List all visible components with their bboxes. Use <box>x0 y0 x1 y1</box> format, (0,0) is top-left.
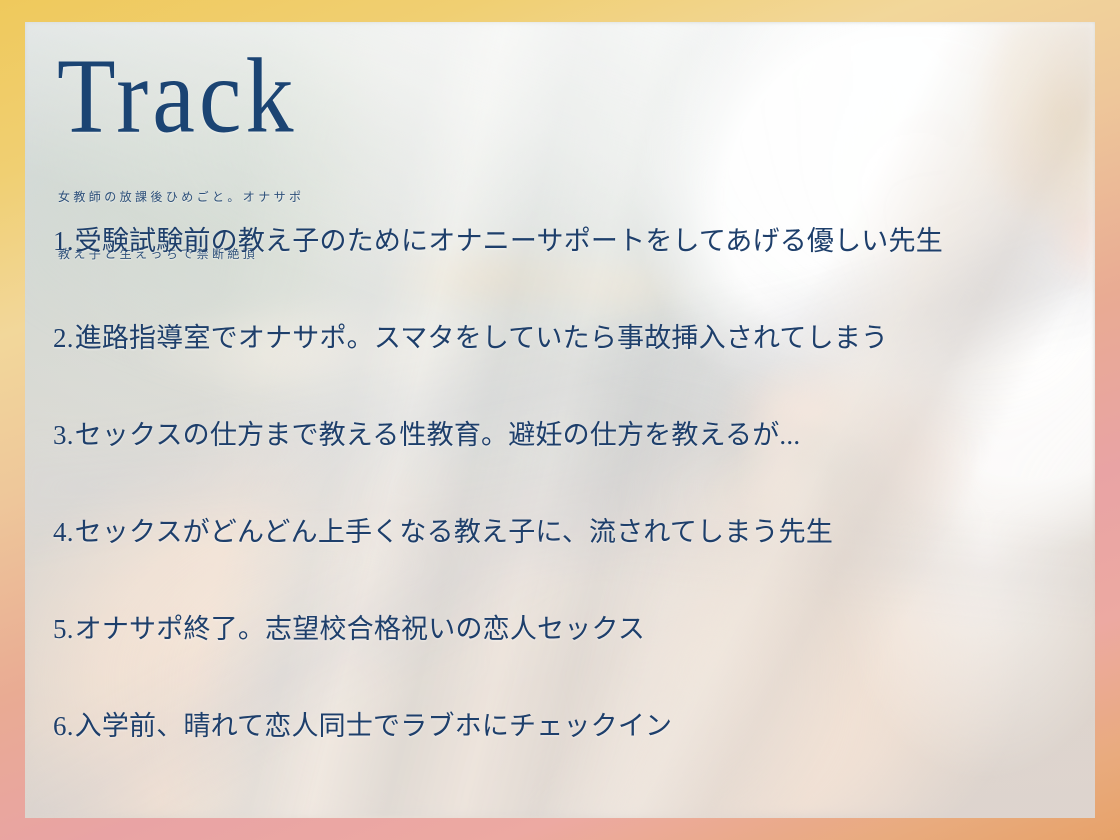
artwork-panel: Track 女教師の放課後ひめごと。オナサポ 教え子と生えっちで禁断絶頂 1. … <box>25 22 1095 818</box>
track-number: 3. <box>53 422 74 449</box>
text-overlay: Track 女教師の放課後ひめごと。オナサポ 教え子と生えっちで禁断絶頂 1. … <box>25 22 1095 818</box>
promo-card-frame: Track 女教師の放課後ひめごと。オナサポ 教え子と生えっちで禁断絶頂 1. … <box>0 0 1120 840</box>
track-list-item: 6. 入学前、晴れて恋人同士でラブホにチェックイン <box>53 713 1063 810</box>
track-list: 1. 受験試験前の教え子のためにオナニーサポートをしてあげる優しい先生 2. 進… <box>53 228 1063 810</box>
track-number: 1. <box>53 228 74 255</box>
track-title: セックスの仕方まで教える性教育。避妊の仕方を教えるが... <box>75 422 801 449</box>
track-number: 6. <box>53 713 74 740</box>
page-title: Track <box>57 42 297 150</box>
track-number: 2. <box>53 325 74 352</box>
track-title: セックスがどんどん上手くなる教え子に、流されてしまう先生 <box>75 519 833 546</box>
track-number: 5. <box>53 616 74 643</box>
track-list-item: 4. セックスがどんどん上手くなる教え子に、流されてしまう先生 <box>53 519 1063 616</box>
track-title: 入学前、晴れて恋人同士でラブホにチェックイン <box>75 713 673 740</box>
track-list-item: 3. セックスの仕方まで教える性教育。避妊の仕方を教えるが... <box>53 422 1063 519</box>
track-list-item: 1. 受験試験前の教え子のためにオナニーサポートをしてあげる優しい先生 <box>53 228 1063 325</box>
work-subtitle-line-1: 女教師の放課後ひめごと。オナサポ <box>58 188 304 207</box>
track-number: 4. <box>53 519 74 546</box>
track-list-item: 5. オナサポ終了。志望校合格祝いの恋人セックス <box>53 616 1063 713</box>
track-title: 受験試験前の教え子のためにオナニーサポートをしてあげる優しい先生 <box>75 228 943 255</box>
track-list-item: 2. 進路指導室でオナサポ。スマタをしていたら事故挿入されてしまう <box>53 325 1063 422</box>
track-title: オナサポ終了。志望校合格祝いの恋人セックス <box>75 616 645 643</box>
track-title: 進路指導室でオナサポ。スマタをしていたら事故挿入されてしまう <box>75 325 889 352</box>
